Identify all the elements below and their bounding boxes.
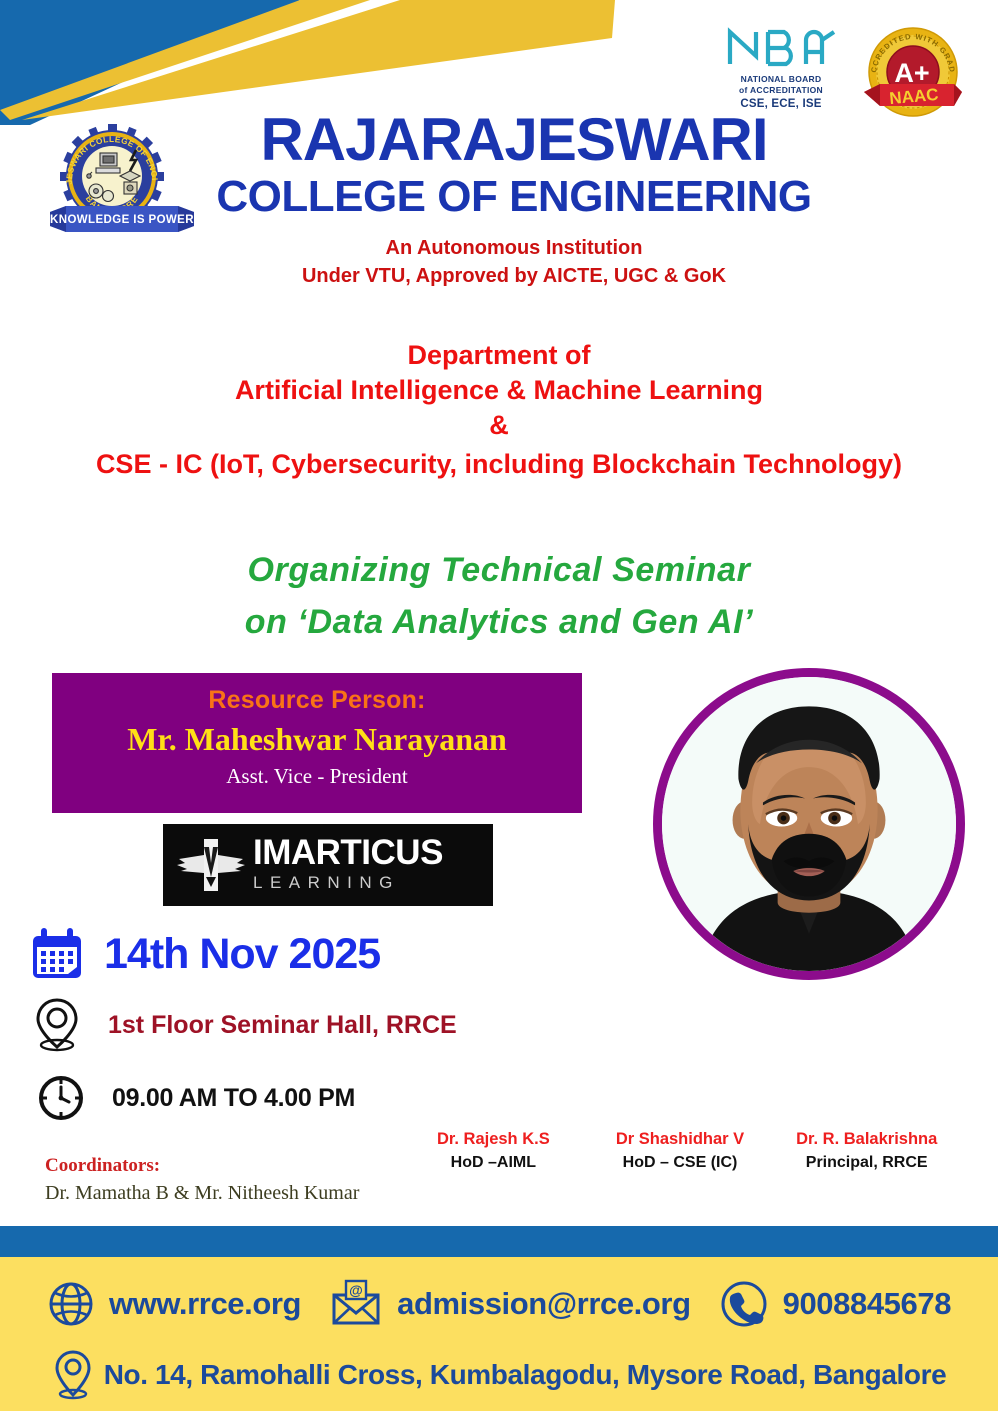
event-venue-row: 1st Floor Seminar Hall, RRCE: [28, 997, 588, 1053]
footer-phone[interactable]: 9008845678: [783, 1286, 951, 1322]
phone-icon: [719, 1279, 769, 1329]
signatory: Dr. Rajesh K.S HoD –AIML: [400, 1128, 587, 1175]
signatories-block: Dr. Rajesh K.S HoD –AIML Dr Shashidhar V…: [400, 1128, 960, 1175]
signatory-title: Principal, RRCE: [773, 1152, 960, 1174]
signatory-title: HoD – CSE (IC): [587, 1152, 774, 1174]
college-crest-logo: RAJARAJESWARI COLLEGE OF ENGINEERING BAN…: [48, 120, 196, 238]
location-pin-icon: [34, 997, 80, 1053]
department-line-1: Department of: [0, 338, 998, 373]
winged-shield-emblem-icon: [175, 833, 247, 897]
footer-website[interactable]: www.rrce.org: [109, 1286, 301, 1322]
resource-person-label: Resource Person:: [52, 686, 582, 715]
naac-badge-icon: ACCREDITED WITH GRADE A+ NAAC: [858, 22, 968, 122]
signatory-name: Dr. Rajesh K.S: [400, 1128, 587, 1150]
resource-person-box: Resource Person: Mr. Maheshwar Narayanan…: [52, 673, 582, 813]
footer-email[interactable]: admission@rrce.org: [397, 1286, 691, 1322]
address-pin-icon: [52, 1349, 94, 1401]
portrait-illustration: [662, 677, 956, 971]
nba-logo: NATIONAL BOARD of ACCREDITATION CSE, ECE…: [722, 26, 840, 110]
affiliation-line: Under VTU, Approved by AICTE, UGC & GoK: [30, 263, 998, 291]
naac-grade: A+: [894, 58, 929, 88]
footer-blue-strip: [0, 1226, 998, 1257]
footer-address: No. 14, Ramohalli Cross, Kumbalagodu, My…: [104, 1359, 947, 1391]
calendar-icon: [28, 925, 86, 983]
globe-icon: [47, 1280, 95, 1328]
department-line-2: Artificial Intelligence & Machine Learni…: [0, 373, 998, 408]
resource-person-photo: [653, 668, 965, 980]
nba-subtitle-line2: of ACCREDITATION: [722, 86, 840, 95]
department-line-4: CSE - IC (IoT, Cybersecurity, including …: [0, 447, 998, 482]
email-icon: @: [329, 1279, 383, 1329]
coordinators-names: Dr. Mamatha B & Mr. Nitheesh Kumar: [45, 1182, 465, 1205]
seminar-title-line-2: on ‘Data Analytics and Gen AI’: [0, 597, 998, 649]
clock-icon: [38, 1075, 84, 1121]
footer-contact-row: www.rrce.org @ admission@rrce.org 900884…: [0, 1279, 998, 1329]
event-date-row: 14th Nov 2025: [28, 925, 588, 983]
organization-logo: IMARTICUS LEARNING: [163, 824, 493, 906]
organization-name: IMARTICUS: [253, 835, 443, 870]
department-line-3: &: [0, 408, 998, 443]
nba-mark-icon: [722, 26, 842, 68]
naac-ribbon: NAAC: [864, 84, 962, 108]
event-venue-text: 1st Floor Seminar Hall, RRCE: [108, 1011, 457, 1040]
department-block: Department of Artificial Intelligence & …: [0, 338, 998, 482]
signatory-name: Dr Shashidhar V: [587, 1128, 774, 1150]
signatory-title: HoD –AIML: [400, 1152, 587, 1174]
imarticus-wordmark: IMARTICUS LEARNING: [253, 835, 443, 895]
event-details: 14th Nov 2025 1st Floor Seminar Hall, RR…: [28, 925, 588, 1121]
footer-address-row: No. 14, Ramohalli Cross, Kumbalagodu, My…: [0, 1349, 998, 1401]
resource-person-designation: Asst. Vice - President: [52, 764, 582, 789]
seminar-title-block: Organizing Technical Seminar on ‘Data An…: [0, 545, 998, 648]
footer-bar: www.rrce.org @ admission@rrce.org 900884…: [0, 1257, 998, 1411]
seminar-title-line-1: Organizing Technical Seminar: [0, 545, 998, 597]
event-time-row: 09.00 AM TO 4.00 PM: [28, 1075, 588, 1121]
autonomous-line: An Autonomous Institution: [30, 235, 998, 263]
crest-motto-text: KNOWLEDGE IS POWER: [50, 214, 194, 226]
svg-text:@: @: [349, 1282, 363, 1298]
signatory-name: Dr. R. Balakrishna: [773, 1128, 960, 1150]
signatory: Dr Shashidhar V HoD – CSE (IC): [587, 1128, 774, 1175]
crest-motto-ribbon: KNOWLEDGE IS POWER: [50, 206, 194, 232]
nba-subtitle-line1: NATIONAL BOARD: [722, 75, 840, 84]
resource-person-name: Mr. Maheshwar Narayanan: [52, 721, 582, 758]
organization-tagline: LEARNING: [253, 872, 443, 895]
event-time-text: 09.00 AM TO 4.00 PM: [112, 1084, 355, 1113]
event-date-text: 14th Nov 2025: [104, 930, 380, 979]
college-header: RAJARAJESWARI COLLEGE OF ENGINEERING BAN…: [0, 110, 998, 290]
signatory: Dr. R. Balakrishna Principal, RRCE: [773, 1128, 960, 1175]
